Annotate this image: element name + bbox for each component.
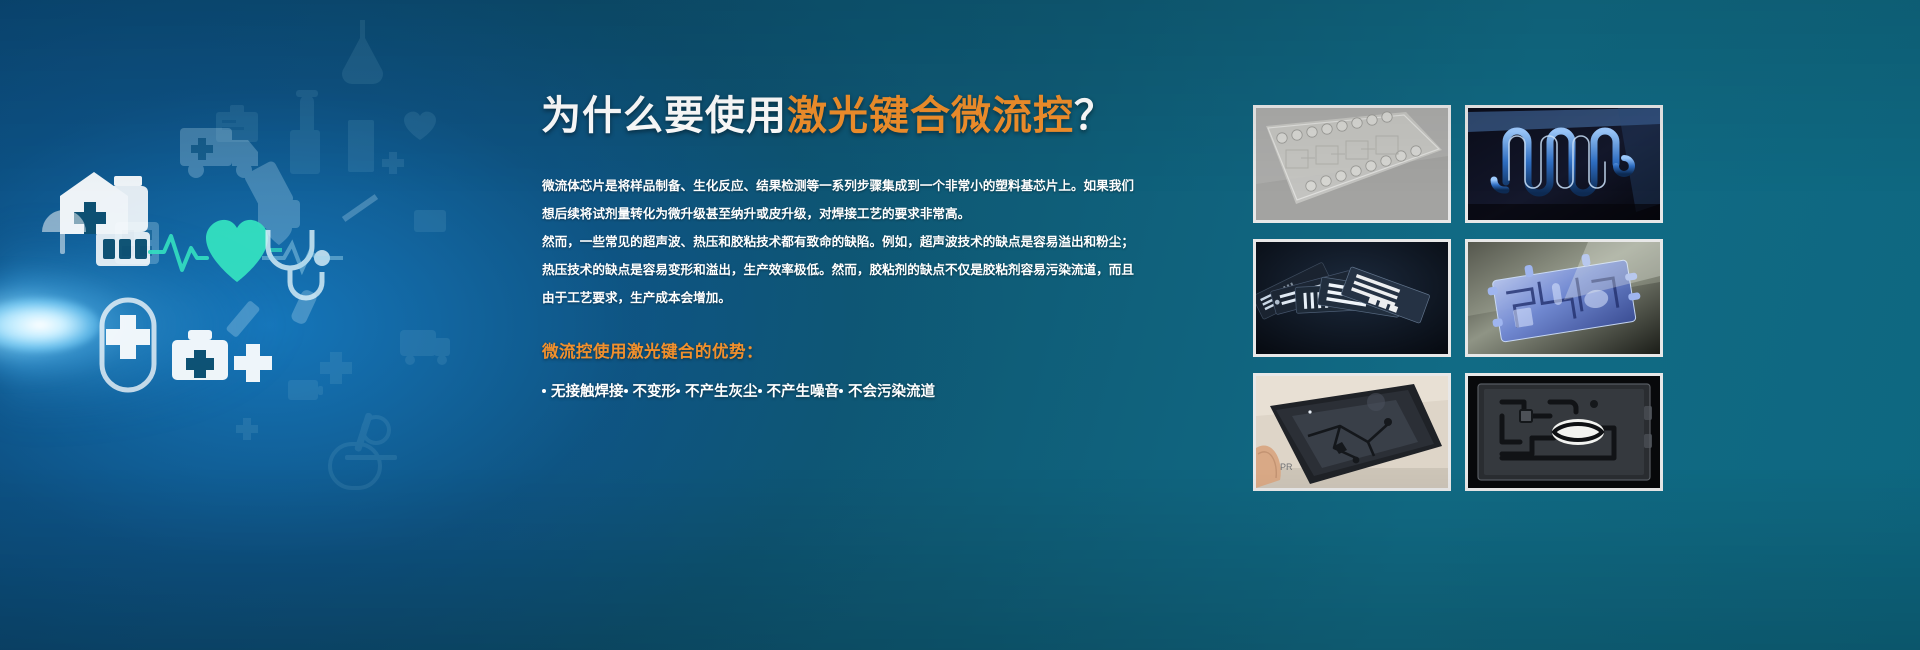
bullet-dot-icon xyxy=(839,389,843,393)
banner-content: 为什么要使用激光键合微流控？ 微流体芯片是将样品制备、生化反应、结果检测等一系列… xyxy=(541,0,1201,650)
bandage-icon xyxy=(342,194,378,222)
advantages-list: 无接触焊接 不变形 不产生灰尘 不产生噪音 不会污染流道 xyxy=(542,380,1182,401)
wheelchair-icon xyxy=(330,444,380,488)
paragraph-2: 然而，一些常见的超声波、热压和胶粘技术都有致命的缺陷。例如，超声波技术的缺点是容… xyxy=(542,228,1172,312)
bullet-dot-icon xyxy=(624,389,628,393)
svg-text:PR: PR xyxy=(1280,462,1293,472)
paragraph-2-line-1: 然而，一些常见的超声波、热压和胶粘技术都有致命的缺陷。例如，超声波技术的缺点是容… xyxy=(542,235,1134,249)
truck-icon xyxy=(400,330,436,356)
kidney-icon xyxy=(414,210,446,232)
body-copy: 微流体芯片是将样品制备、生化反应、结果检测等一系列步骤集成到一个非常小的塑料基芯… xyxy=(542,172,1172,312)
plus-icon xyxy=(234,344,272,382)
photo-black-channel-cartridge xyxy=(1465,373,1663,491)
ecg-heart-icon xyxy=(150,220,282,282)
page-title: 为什么要使用激光键合微流控？ xyxy=(541,96,1115,136)
title-part-white: 为什么要使用 xyxy=(541,94,787,138)
advantage-label: 不产生灰尘 xyxy=(685,380,758,401)
advantage-label: 不会污染流道 xyxy=(848,380,935,401)
bullet-dot-icon xyxy=(542,389,546,393)
advantages-heading: 微流控使用激光键合的优势： xyxy=(542,338,763,362)
photo-black-chip-in-hand: PR xyxy=(1253,373,1451,491)
paragraph-1-line-2: 想后续将试剂量转化为微升级甚至纳升或皮升级，对焊接工艺的要求非常高。 xyxy=(542,207,970,221)
hospital-icon xyxy=(348,120,374,172)
photo-blue-cartridge-chip xyxy=(1465,239,1663,357)
photo-serpentine-channel-chip xyxy=(1465,105,1663,223)
bullet-dot-icon xyxy=(758,389,762,393)
advantage-item: 不会污染流道 xyxy=(839,380,935,401)
advantage-item: 不产生灰尘 xyxy=(676,380,758,401)
promo-banner: 为什么要使用激光键合微流控？ 微流体芯片是将样品制备、生化反应、结果检测等一系列… xyxy=(0,0,1920,650)
advantage-item: 无接触焊接 xyxy=(542,380,624,401)
bed-icon xyxy=(258,200,300,228)
paragraph-2-line-3: 由于工艺要求，生产成本会增加。 xyxy=(542,291,731,305)
title-part-tail: ？ xyxy=(1074,94,1115,138)
heart-icon xyxy=(404,112,436,140)
advantage-item: 不变形 xyxy=(624,380,677,401)
paragraph-2-line-2: 热压技术的缺点是容易变形和溢出，生产效率极低。然而，胶粘剂的缺点不仅是胶粘剂容易… xyxy=(542,263,1134,277)
flask-icon xyxy=(342,20,383,84)
advantage-item: 不产生噪音 xyxy=(758,380,840,401)
advantage-label: 不产生噪音 xyxy=(767,380,840,401)
advantage-label: 不变形 xyxy=(633,380,677,401)
photo-chip-array-fan xyxy=(1253,239,1451,357)
pill-bottle-icon xyxy=(108,186,148,232)
medical-bag-icon xyxy=(290,130,320,174)
paragraph-1: 微流体芯片是将样品制备、生化反应、结果检测等一系列步骤集成到一个非常小的塑料基芯… xyxy=(542,172,1172,228)
bullet-dot-icon xyxy=(676,389,680,393)
paragraph-1-line-1: 微流体芯片是将样品制备、生化反应、结果检测等一系列步骤集成到一个非常小的塑料基芯… xyxy=(542,179,1134,193)
photo-microfluidic-chip-with-ports xyxy=(1253,105,1451,223)
cross-icon xyxy=(320,352,352,384)
cross-icon xyxy=(106,315,150,359)
title-part-orange: 激光键合微流控 xyxy=(787,94,1074,138)
advantage-label: 无接触焊接 xyxy=(551,380,624,401)
ecg-icon xyxy=(262,244,343,270)
product-photo-grid: PR xyxy=(1253,105,1663,491)
battery-icon xyxy=(288,380,318,400)
